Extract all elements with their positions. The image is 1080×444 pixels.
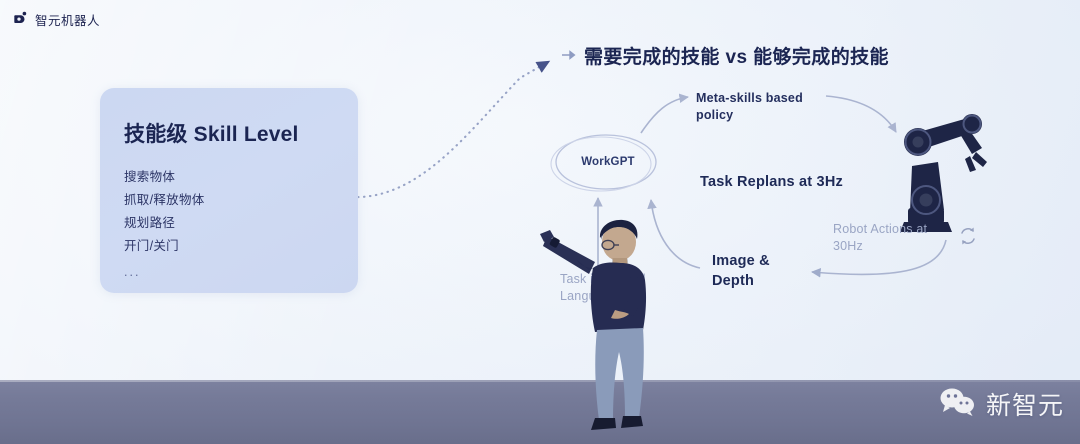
workgpt-node: WorkGPT (556, 134, 660, 190)
headline-text: 需要完成的技能 vs 能够完成的技能 (584, 42, 889, 69)
meta-skills-label: Meta-skills based policy (696, 90, 826, 124)
slide-headline: 需要完成的技能 vs 能够完成的技能 (562, 42, 889, 69)
skill-item: 开门/关门 (124, 235, 358, 258)
wechat-icon (939, 387, 977, 422)
skill-item: 规划路径 (124, 212, 358, 235)
skill-card-title: 技能级 Skill Level (124, 118, 358, 148)
presenter-silhouette (533, 218, 683, 444)
brand-logo: 智元机器人 (12, 10, 100, 29)
task-replans-label: Task Replans at 3Hz (700, 173, 920, 193)
skill-level-card: 技能级 Skill Level 搜索物体 抓取/释放物体 规划路径 开门/关门 … (100, 88, 358, 293)
brand-name: 智元机器人 (35, 10, 100, 29)
skill-list-ellipsis: ... (124, 265, 358, 279)
image-depth-label: Image & Depth (712, 252, 802, 291)
channel-watermark: 新智元 (939, 386, 1064, 422)
refresh-cycle-icon (957, 225, 979, 247)
skill-item: 搜索物体 (124, 166, 358, 189)
workgpt-label: WorkGPT (556, 134, 660, 190)
arrow-right-icon (562, 47, 576, 65)
robot-actions-label: Robot Actions at 30Hz (833, 221, 953, 255)
skill-item: 抓取/释放物体 (124, 189, 358, 212)
presentation-screenshot: 智元机器人 技能级 Skill Level 搜索物体 抓取/释放物体 规划路径 … (0, 0, 1080, 444)
agibot-logo-icon (12, 11, 29, 28)
watermark-text: 新智元 (986, 386, 1064, 422)
robot-arm-icon (886, 104, 994, 236)
